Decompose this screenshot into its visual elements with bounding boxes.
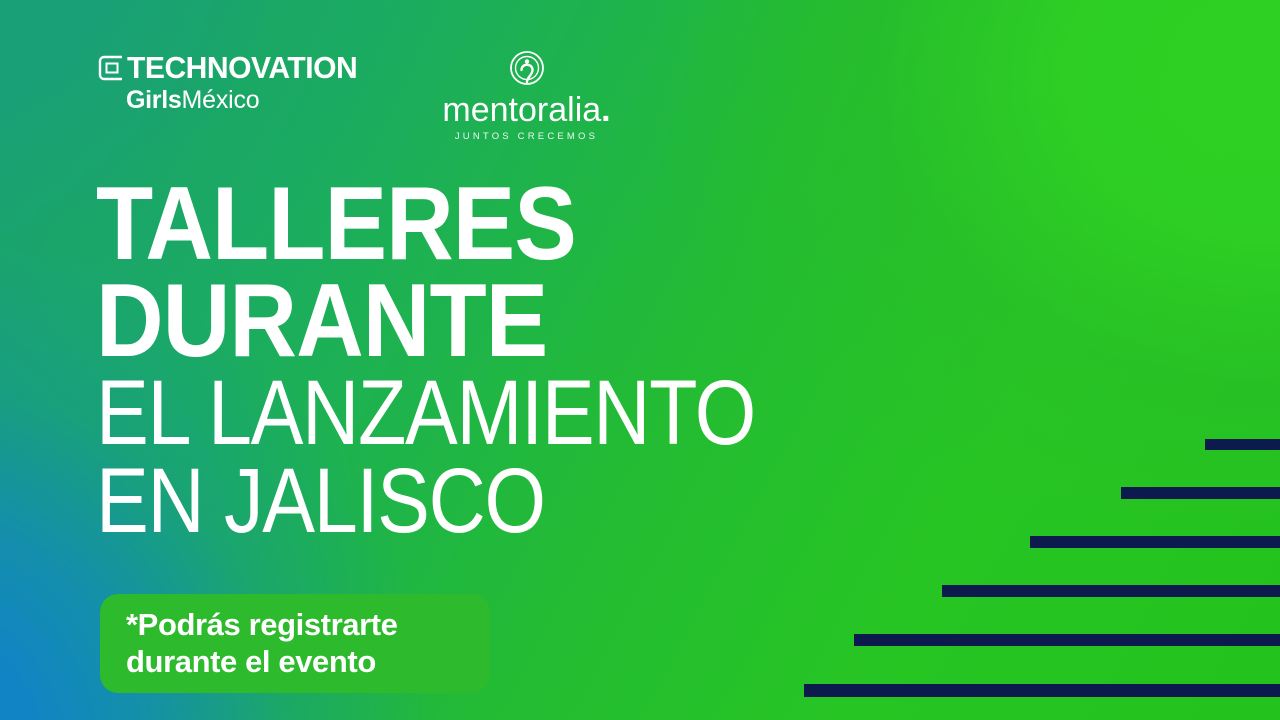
decorative-bar [1121,487,1280,499]
headline-line-2: DURANTE [96,273,978,370]
technovation-mexico-label: México [181,86,259,114]
headline-line-3: EL LANZAMIENTO [96,371,939,457]
technovation-logo: TECHNOVATION GirlsMéxico [98,52,364,113]
technovation-girls-label: Girls [126,86,181,114]
mentoralia-wordmark-dot: . [601,91,610,129]
circle-emblem-icon [505,48,549,92]
registration-note-badge: *Podrás registrarte durante el evento [100,594,490,693]
headline-line-4: EN JALISCO [96,459,939,545]
decorative-bar [942,585,1280,597]
headline-line-1: TALLERES [96,176,978,273]
technovation-subtitle: GirlsMéxico [126,88,364,113]
decorative-bar [854,634,1280,646]
badge-line-2: durante el evento [126,644,490,681]
technovation-wordmark: TECHNOVATION [127,52,357,83]
decorative-bar [804,684,1280,697]
poster-canvas: TECHNOVATION GirlsMéxico mentoralia. JUN… [0,0,1280,720]
mentoralia-wordmark-text: mentoralia [442,91,601,129]
headline-block: TALLERES DURANTE EL LANZAMIENTO EN JALIS… [96,176,1076,545]
technovation-logo-top: TECHNOVATION [98,52,364,83]
mentoralia-tagline: JUNTOS CRECEMOS [442,131,610,142]
logo-row: TECHNOVATION GirlsMéxico mentoralia. JUN… [98,52,611,142]
decorative-bar [1205,439,1280,450]
bracket-square-icon [98,55,124,81]
mentoralia-wordmark: mentoralia. [442,93,610,127]
badge-line-1: *Podrás registrarte [126,607,490,644]
mentoralia-logo: mentoralia. JUNTOS CRECEMOS [442,48,610,142]
